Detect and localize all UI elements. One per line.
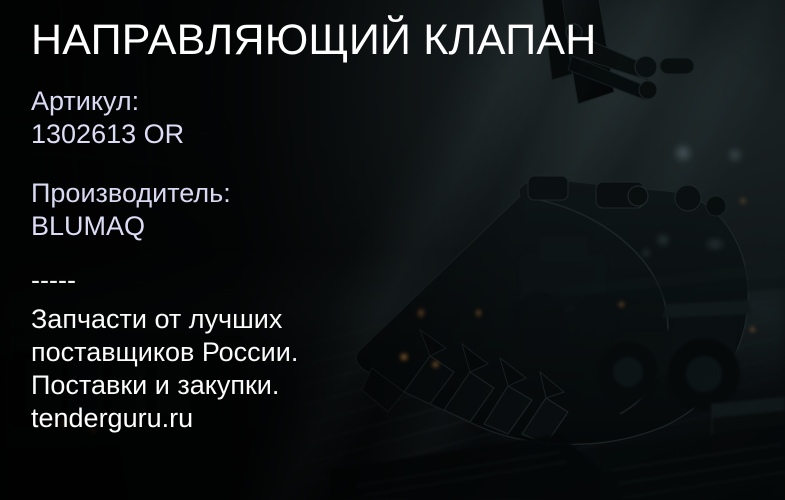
bokeh-light bbox=[700, 238, 730, 250]
product-title: НАПРАВЛЯЮЩИЙ КЛАПАН bbox=[31, 18, 597, 63]
foreground-tractor bbox=[598, 300, 752, 410]
machine-lamp bbox=[748, 325, 757, 334]
site-url: tenderguru.ru bbox=[31, 402, 298, 435]
bokeh-light bbox=[640, 247, 652, 259]
machine-lamp bbox=[738, 196, 748, 206]
divider-dashes: ----- bbox=[31, 264, 76, 297]
field-article-label: Артикул: bbox=[31, 86, 139, 116]
right-crate bbox=[712, 396, 785, 474]
tagline-line-2: поставщиков России. bbox=[31, 336, 298, 369]
banner-content: НАПРАВЛЯЮЩИЙ КЛАПАН Артикул: 1302613 OR … bbox=[31, 0, 551, 500]
machine-lamp bbox=[617, 300, 626, 309]
field-manufacturer: Производитель: BLUMAQ bbox=[31, 177, 231, 243]
tagline-line-3: Поставки и закупки. bbox=[31, 369, 298, 402]
field-article-value: 1302613 OR bbox=[31, 118, 184, 151]
bokeh-light bbox=[672, 142, 694, 164]
tagline-block: Запчасти от лучших поставщиков России. П… bbox=[31, 303, 298, 435]
tagline-line-1: Запчасти от лучших bbox=[31, 303, 298, 336]
product-banner: НАПРАВЛЯЮЩИЙ КЛАПАН Артикул: 1302613 OR … bbox=[0, 0, 785, 500]
bokeh-light bbox=[655, 232, 671, 248]
right-platform bbox=[520, 262, 785, 312]
field-article: Артикул: 1302613 OR bbox=[31, 85, 184, 151]
bokeh-light bbox=[726, 146, 744, 164]
field-manufacturer-label: Производитель: bbox=[31, 178, 231, 208]
field-manufacturer-value: BLUMAQ bbox=[31, 210, 231, 243]
